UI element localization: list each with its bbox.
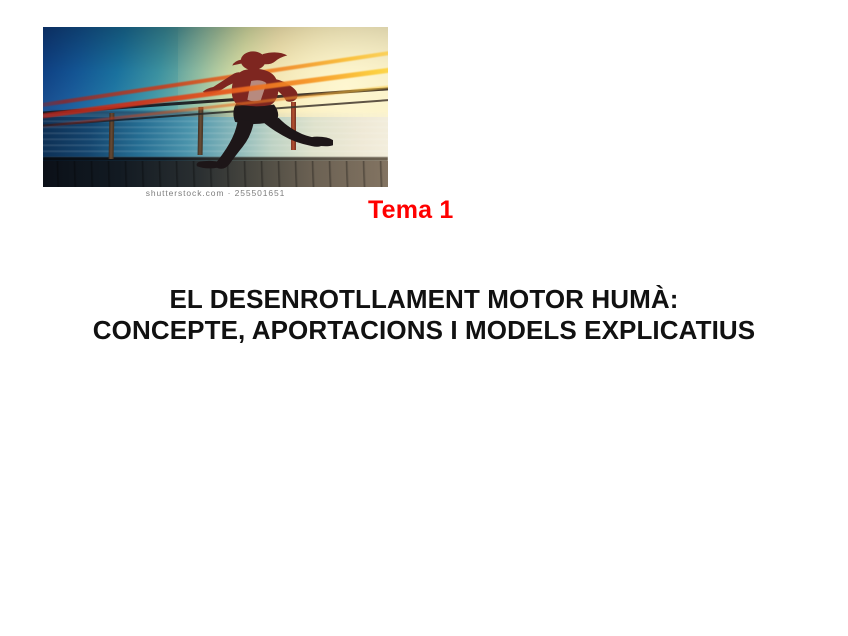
runner-photo [43,27,388,187]
runner-silhouette [181,46,333,180]
watermark-strip: shutterstock.com · 255501651 [43,187,388,200]
hero-image-block: shutterstock.com · 255501651 [43,27,388,200]
page-title: EL DESENROTLLAMENT MOTOR HUMÀ: CONCEPTE,… [0,284,848,346]
shutterstock-watermark: shutterstock.com · 255501651 [43,187,388,200]
title-line-2: CONCEPTE, APORTACIONS I MODELS EXPLICATI… [0,315,848,346]
title-line-1: EL DESENROTLLAMENT MOTOR HUMÀ: [0,284,848,315]
tema-label: Tema 1 [368,196,454,225]
slide-canvas: shutterstock.com · 255501651 Tema 1 EL D… [0,0,848,636]
